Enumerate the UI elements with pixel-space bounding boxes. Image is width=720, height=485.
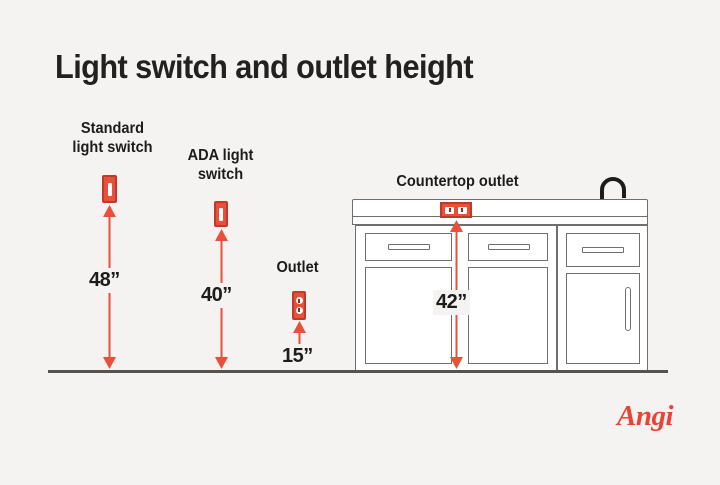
duplex-outlet-icon (292, 291, 306, 320)
outlet-measurement: 15” (279, 344, 316, 369)
countertop-outlet-label: Countertop outlet (380, 173, 535, 191)
page-title: Light switch and outlet height (55, 48, 473, 86)
outlet-socket-bottom-icon (296, 307, 303, 314)
standard-switch-label-line1: Standard (58, 120, 166, 138)
countertop-apron (352, 216, 648, 225)
drawer-pull-left-2 (488, 244, 530, 250)
cabinet-divider (556, 225, 558, 371)
cabinet-door-left-2 (468, 267, 548, 364)
ada-light-switch-icon (214, 201, 228, 227)
switch-toggle-icon (108, 183, 112, 196)
drawer-pull-right-1 (582, 247, 624, 253)
ada-switch-label-line1: ADA light (171, 147, 270, 165)
cabinet-door-left-1 (365, 267, 452, 364)
countertop-surface (352, 199, 648, 217)
outlet-socket-top-icon (296, 297, 303, 304)
switch-toggle-icon (219, 208, 223, 221)
standard-switch-label-line2: light switch (58, 139, 166, 157)
ada-switch-label-line2: switch (171, 166, 270, 184)
floor-baseline (48, 370, 668, 373)
angi-logo: Angi (617, 400, 673, 433)
infographic-canvas: Light switch and outlet height Standard … (0, 0, 720, 485)
standard-light-switch-icon (102, 175, 117, 203)
countertop-outlet-socket-left-icon (445, 207, 454, 214)
countertop-duplex-outlet-icon (440, 202, 472, 218)
outlet-label: Outlet (258, 259, 338, 277)
countertop-outlet-measurement: 42” (433, 290, 470, 315)
drawer-pull-left-1 (388, 244, 430, 250)
standard-switch-measurement: 48” (86, 268, 123, 293)
ada-switch-measurement: 40” (198, 283, 235, 308)
countertop-outlet-socket-right-icon (458, 207, 467, 214)
door-pull-right-1 (625, 287, 631, 331)
